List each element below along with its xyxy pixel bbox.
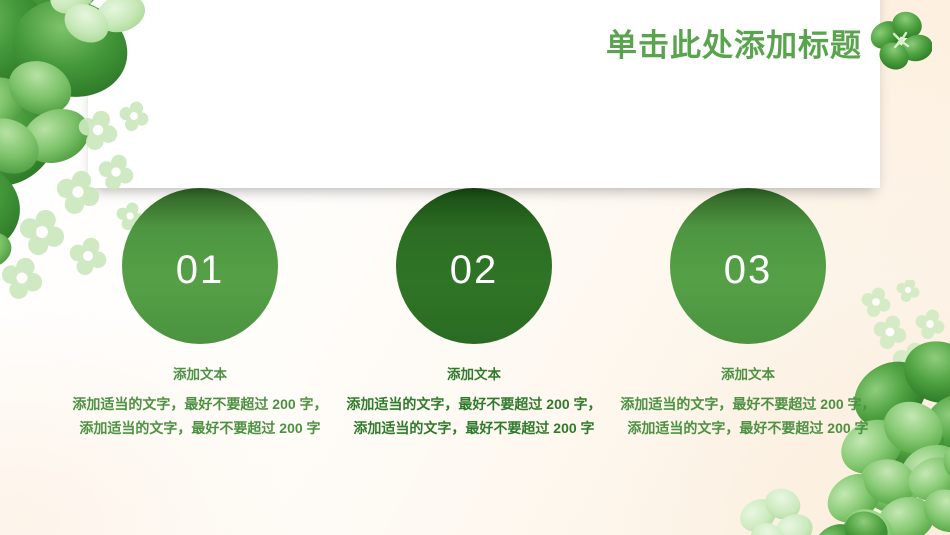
step-number-2: 02 [450,248,499,293]
column-2-body: 添加适当的文字，最好不要超过 200 字，添加适当的文字，最好不要超过 200 … [337,392,611,440]
step-circle-3[interactable]: 03 [670,188,826,344]
page-title: 单击此处添加标题 [606,20,862,65]
step-circle-2[interactable]: 02 [396,188,552,344]
column-2-heading: 添加文本 [337,366,611,385]
step-number-1: 01 [176,248,225,293]
slide-canvas: 单击此处添加标题 01 添加文本 添加适当的文字， [0,0,950,535]
step-number-3: 03 [724,248,773,293]
column-2: 02 添加文本 添加适当的文字，最好不要超过 200 字，添加适当的文字，最好不… [337,188,611,440]
column-3-heading: 添加文本 [611,366,885,385]
column-3: 03 添加文本 添加适当的文字，最好不要超过 200 字，添加适当的文字，最好不… [611,188,885,440]
column-1-body: 添加适当的文字，最好不要超过 200 字，添加适当的文字，最好不要超过 200 … [63,392,337,440]
step-circle-1[interactable]: 01 [122,188,278,344]
column-1: 01 添加文本 添加适当的文字，最好不要超过 200 字，添加适当的文字，最好不… [63,188,337,440]
column-3-body: 添加适当的文字，最好不要超过 200 字，添加适当的文字，最好不要超过 200 … [611,392,885,440]
column-1-heading: 添加文本 [63,366,337,385]
